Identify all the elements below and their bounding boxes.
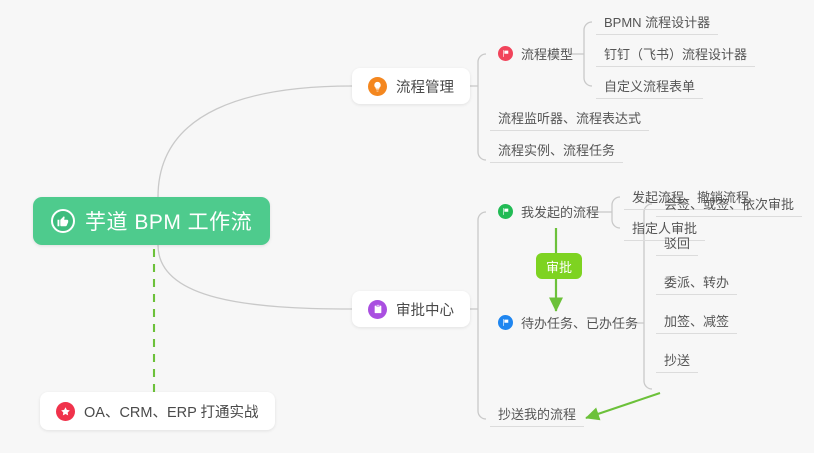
node-label: 流程监听器、流程表达式 [498,108,641,127]
node-reject[interactable]: 驳回 [656,232,698,256]
approval-badge[interactable]: 审批 [536,253,582,279]
connector-my-initiated-spine [612,197,620,228]
node-carbon-copy[interactable]: 抄送 [656,349,698,373]
connector-root-to-process-management [158,86,352,197]
root-node[interactable]: 芋道 BPM 工作流 [33,197,270,245]
connector-approval-center-spine [478,212,486,419]
node-todo-done-tasks[interactable]: 待办任务、已办任务 [490,312,646,336]
branch-approval-center[interactable]: 审批中心 [352,291,470,327]
flag-green-icon [498,204,513,219]
node-label: BPMN 流程设计器 [604,12,710,31]
branch-label: 审批中心 [396,299,454,320]
thumbs-up-icon [51,209,75,233]
node-label: 会签、或签、依次审批 [664,194,794,213]
connector-root-to-approval-center [158,245,352,309]
node-label: 我发起的流程 [521,202,599,221]
footer-node-label: OA、CRM、ERP 打通实战 [84,401,259,422]
node-label: 待办任务、已办任务 [521,313,638,332]
connector-process-management-spine [478,54,486,160]
footer-node-integration-practice[interactable]: OA、CRM、ERP 打通实战 [40,392,275,430]
flag-red-icon [498,46,513,61]
node-label: 抄送 [664,350,690,369]
node-label: 委派、转办 [664,272,729,291]
node-label: 抄送我的流程 [498,404,576,423]
node-process-model[interactable]: 流程模型 [490,43,581,67]
node-label: 驳回 [664,233,690,252]
node-bpmn-designer[interactable]: BPMN 流程设计器 [596,11,718,35]
branch-process-management[interactable]: 流程管理 [352,68,470,104]
lightbulb-icon [368,77,387,96]
node-delegate-transfer[interactable]: 委派、转办 [656,271,737,295]
arrow-cc-to-cc-process [586,393,660,418]
mindmap-canvas: 芋道 BPM 工作流 流程管理 流程模型 BPMN 流程设计器 钉钉（飞书）流程… [0,0,814,453]
branch-label: 流程管理 [396,76,454,97]
node-dingtalk-feishu-designer[interactable]: 钉钉（飞书）流程设计器 [596,43,755,67]
node-custom-process-form[interactable]: 自定义流程表单 [596,75,703,99]
badge-label: 审批 [546,257,572,276]
root-label: 芋道 BPM 工作流 [85,206,252,236]
node-my-initiated-process[interactable]: 我发起的流程 [490,201,607,225]
node-process-listener-expression[interactable]: 流程监听器、流程表达式 [490,107,649,131]
node-countersign[interactable]: 会签、或签、依次审批 [656,193,802,217]
node-label: 自定义流程表单 [604,76,695,95]
star-icon [56,402,75,421]
flag-blue-icon [498,315,513,330]
node-process-instance-task[interactable]: 流程实例、流程任务 [490,139,623,163]
node-label: 流程实例、流程任务 [498,140,615,159]
clipboard-icon [368,300,387,319]
node-label: 钉钉（飞书）流程设计器 [604,44,747,63]
connector-process-model-spine [584,22,592,86]
node-label: 流程模型 [521,44,573,63]
node-cc-to-me-process[interactable]: 抄送我的流程 [490,403,584,427]
node-label: 加签、减签 [664,311,729,330]
node-add-remove-sign[interactable]: 加签、减签 [656,310,737,334]
